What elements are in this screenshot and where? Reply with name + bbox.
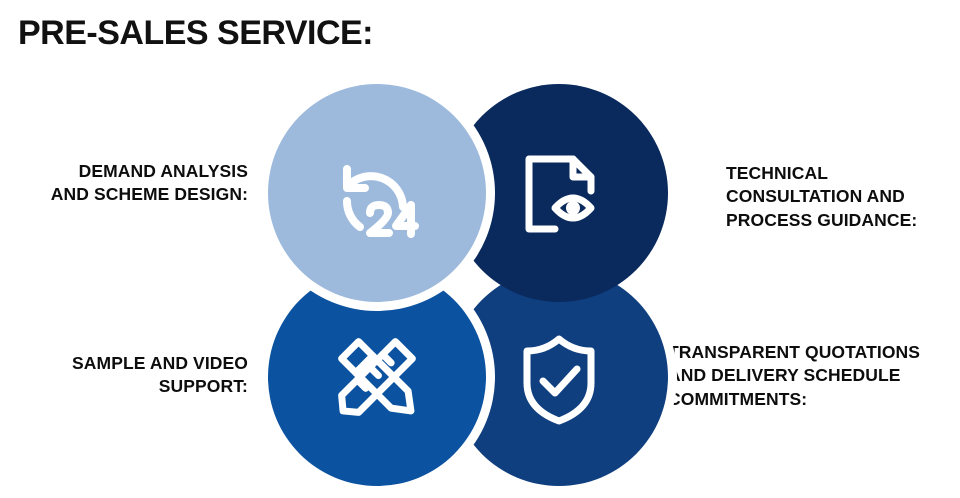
- label-sample-video-support: SAMPLE AND VIDEO SUPPORT:: [0, 352, 248, 399]
- service-circle-demand-analysis[interactable]: [268, 84, 486, 302]
- pen-pencil-cross-icon: [323, 323, 431, 431]
- page-title: PRE-SALES SERVICE:: [18, 14, 373, 53]
- label-demand-analysis: DEMAND ANALYSIS AND SCHEME DESIGN:: [0, 160, 248, 207]
- label-technical-consultation: TECHNICAL CONSULTATION AND PROCESS GUIDA…: [726, 162, 958, 232]
- document-eye-icon: [505, 139, 613, 247]
- label-transparent-quotations: TRANSPARENT QUOTATIONS AND DELIVERY SCHE…: [668, 341, 960, 411]
- shield-check-icon: [505, 323, 613, 431]
- clock-24-rotate-icon: [323, 139, 431, 247]
- service-circle-cluster: [268, 84, 668, 486]
